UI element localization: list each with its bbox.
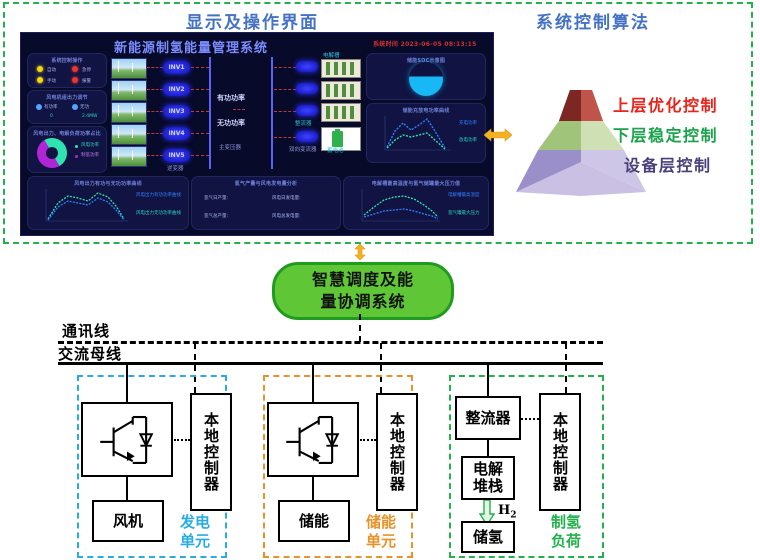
igbt-symbol-icon: [269, 402, 357, 477]
panel-temp-pressure-curves[interactable]: 电解槽最高温度与氢气储罐最大压力值 电解槽最高温度 氢气罐最大压力: [343, 176, 489, 230]
legend-wind-active: 风电出力有功功率曲线: [136, 192, 181, 198]
gen-ctrl-dashdot: [174, 439, 190, 441]
energy-storage-block[interactable]: 储能: [278, 500, 350, 542]
wind-power-curve-svg: [34, 187, 130, 227]
panel-power-share-donut[interactable]: 风电出力、电解负荷功率占比 风电功率 制氢功率: [27, 126, 107, 173]
unit-generation-label: 发电 单元: [180, 513, 210, 551]
hmi-system-time: 系统时间 2023-06-05 08:13:15: [373, 39, 477, 48]
value-reactive-power: 2.4MW: [82, 114, 98, 119]
rectifier-unit-3[interactable]: [296, 105, 318, 116]
feeder-dash: [147, 89, 163, 90]
legend-dot-wind: [75, 145, 78, 148]
scheduler-box[interactable]: 智慧调度及能 量协调系统: [272, 262, 454, 320]
panel-charge-discharge-title: 储能充放电功率曲线: [367, 107, 485, 114]
panel-power-share-title: 风电出力、电解负荷功率占比: [28, 130, 106, 137]
status-dot-alarm: [72, 77, 78, 83]
hmi-bus-left: [209, 57, 211, 169]
donut-chart: [37, 138, 67, 168]
charge-discharge-svg: [375, 114, 453, 156]
legend-dot-h2: [75, 155, 78, 158]
label-active-power-center: 有功功率: [217, 93, 245, 103]
communication-bus-line: [58, 341, 603, 344]
label-comm-line: 通讯线: [62, 320, 110, 341]
panel-production-analysis-title: 氢气产量与风电发电量分析: [192, 180, 340, 187]
hydrogen-gas-label: H2: [498, 503, 517, 521]
section-title-algorithm: 系统控制算法: [536, 8, 650, 33]
wind-farm-thumbnail: [111, 102, 147, 123]
option-auto[interactable]: 自动: [47, 67, 56, 73]
wind-farm-thumbnail: [111, 80, 147, 101]
legend-charge-power: 充电功率: [459, 120, 477, 126]
field-h2-total: 氢气总产量:: [204, 213, 228, 219]
wind-turbine-label: 风机: [113, 513, 143, 530]
hydrogen-storage-label: 储氢: [473, 529, 503, 546]
rectifier-unit-1[interactable]: [296, 61, 318, 72]
igbt-symbol-icon: [83, 402, 171, 477]
feeder-dash: [147, 155, 163, 156]
unit-storage-label: 储能 单元: [366, 513, 396, 551]
energy-storage-label: 储能: [299, 513, 329, 530]
electrolyzer-cell-3: [321, 103, 361, 122]
unit-hydrogen-label: 制氢 负荷: [551, 513, 581, 551]
unit-generation-label-line1: 发电: [180, 513, 210, 531]
algorithm-layer-device: 设备层控制: [624, 152, 712, 176]
electrolysis-stack-label: 电解 堆栈: [473, 461, 503, 495]
label-electrolyzer: 电解槽: [323, 51, 340, 59]
field-wind-total: 风电总发电量:: [272, 213, 301, 219]
soc-gauge: [409, 62, 443, 96]
inverter-inv4[interactable]: INV4: [163, 127, 190, 140]
temp-pressure-curve-svg: [350, 187, 442, 227]
inv-bus-dash: [191, 67, 209, 68]
hmi-dashboard-screenshot[interactable]: 新能源制氢能量管理系统 系统时间 2023-06-05 08:13:15 系统控…: [20, 32, 494, 236]
panel-wind-power-curves[interactable]: 风电出力有功与无功功率曲线 风电出力有功功率曲线 风电出力无功功率曲线: [27, 176, 189, 230]
option-alarm[interactable]: 报警: [82, 78, 91, 84]
rectifier-unit-2[interactable]: [296, 83, 318, 94]
wind-turbine-block[interactable]: 风机: [92, 500, 164, 542]
bidirectional-link-arrow: [484, 128, 512, 142]
wind-farm-thumbnail: [111, 58, 147, 79]
unit-hydrogen-label-line1: 制氢: [551, 513, 581, 531]
panel-output-regulation-title: 风电机组出力调节: [28, 94, 106, 101]
panel-output-regulation[interactable]: 风电机组出力调节 有功率 无功 0 2.4MW: [27, 90, 107, 124]
ess-ctrl-dashdot: [360, 439, 376, 441]
converter-ess[interactable]: [267, 402, 359, 477]
label-ac-bus: 交流母线: [58, 343, 122, 364]
option-manual[interactable]: 手动: [47, 78, 56, 84]
label-rectifier: 整流器: [295, 119, 312, 127]
device-dash: [274, 137, 296, 138]
field-h2-daily: 氢气日产量:: [204, 195, 228, 201]
electrolysis-stack-line2: 堆栈: [473, 477, 503, 495]
inverter-inv5[interactable]: INV5: [163, 149, 190, 162]
local-controller-gen-label: 本地控制器: [201, 412, 221, 492]
marker-active-power: [36, 104, 42, 110]
inv-bus-dash: [191, 133, 209, 134]
gen-link-down: [126, 477, 128, 500]
scheduler-label: 智慧调度及能 量协调系统: [312, 269, 414, 313]
legend-h2-pressure: 氢气罐最大压力: [448, 210, 480, 216]
feeder-dash: [147, 111, 163, 112]
electrolyzer-cell-2: [321, 81, 361, 100]
panel-control-operations-title: 系统控制操作: [28, 57, 106, 64]
unit-hydrogen-label-line2: 负荷: [551, 532, 581, 550]
legend-electrolyzer-temp: 电解槽最高温度: [448, 192, 480, 198]
hydrogen-subscript: 2: [510, 511, 516, 521]
value-active-power: 0: [50, 114, 53, 119]
electrolysis-stack-line1: 电解: [473, 460, 503, 478]
algorithm-layer-lower: 下层稳定控制: [613, 122, 718, 146]
vertical-link-arrow: [352, 244, 368, 260]
unit-storage-label-line1: 储能: [366, 513, 396, 531]
option-estop[interactable]: 急停: [82, 67, 91, 73]
device-dash: [274, 111, 296, 112]
wind-farm-thumbnail: [111, 124, 147, 145]
rectifier-label: 整流器: [465, 410, 510, 427]
inv-bus-dash: [191, 155, 209, 156]
panel-temp-pressure-title: 电解槽最高温度与氢气储罐最大压力值: [344, 180, 488, 187]
local-controller-ess[interactable]: 本地控制器: [376, 393, 418, 511]
inverter-inv3[interactable]: INV3: [163, 105, 190, 118]
label-bidirectional-converter: 双向变流器: [289, 145, 317, 153]
unit-storage-label-line2: 单元: [366, 532, 396, 550]
legend-wind-reactive: 风电出力无功功率曲线: [136, 210, 181, 216]
panel-soc[interactable]: 储能SOC示意图: [366, 53, 486, 100]
status-dot-manual: [37, 77, 43, 83]
hmi-bus-right: [271, 57, 273, 169]
label-inverter-group: 逆变器: [167, 164, 184, 172]
ac-bus-line: [58, 362, 603, 365]
local-controller-h2[interactable]: 本地控制器: [539, 393, 581, 511]
local-controller-gen[interactable]: 本地控制器: [190, 393, 232, 511]
algorithm-layer-upper: 上层优化控制: [613, 92, 718, 116]
section-title-display: 显示及操作界面: [186, 8, 319, 33]
bidirectional-converter[interactable]: [296, 131, 318, 142]
field-wind-daily: 风电日发电量:: [272, 195, 301, 201]
panel-charge-discharge-chart[interactable]: 储能充放电功率曲线 充电功率 放电功率: [366, 103, 486, 163]
inverter-inv2[interactable]: INV2: [163, 83, 190, 96]
legend-discharge-power: 放电功率: [459, 137, 477, 143]
center-dash: [233, 109, 245, 110]
feeder-dash: [147, 67, 163, 68]
scheduler-label-line2: 量协调系统: [320, 292, 405, 311]
panel-wind-power-curves-title: 风电出力有功与无功功率曲线: [28, 180, 188, 187]
panel-production-analysis[interactable]: 氢气产量与风电发电量分析 氢气日产量: 风电日发电量: 氢气总产量: 风电总发电…: [191, 176, 341, 230]
feeder-dash: [147, 133, 163, 134]
local-controller-h2-label: 本地控制器: [550, 412, 570, 492]
electrolyzer-cell-1: [321, 59, 361, 78]
converter-gen[interactable]: [81, 402, 173, 477]
label-reactive-power-center: 无功功率: [217, 118, 245, 128]
panel-control-operations[interactable]: 系统控制操作 自动 急停 手动 报警: [27, 53, 107, 88]
h2-rect-stack-link: [487, 440, 489, 456]
marker-reactive-power: [72, 104, 78, 110]
wind-farm-thumbnail: [111, 146, 147, 167]
status-dot-estop: [72, 66, 78, 72]
scheduler-comm-drop: [359, 314, 361, 342]
electrolysis-stack-block[interactable]: 电解 堆栈: [461, 456, 515, 500]
label-reactive-power: 无功: [80, 104, 89, 110]
h2-ctrl-dashdot: [521, 418, 539, 420]
hydrogen-storage-block[interactable]: 储氢: [461, 521, 515, 553]
label-main-transformer: 主变压器: [219, 143, 241, 151]
device-dash: [274, 89, 296, 90]
scheduler-label-line1: 智慧调度及能: [312, 270, 414, 289]
label-active-power: 有功率: [44, 104, 58, 110]
local-controller-ess-label: 本地控制器: [387, 412, 407, 492]
inv-bus-dash: [191, 111, 209, 112]
legend-label-h2: 制氢功率: [81, 152, 99, 158]
unit-generation-label-line2: 单元: [180, 532, 210, 550]
rectifier-block[interactable]: 整流器: [455, 396, 521, 440]
label-battery: 蓄电池: [327, 146, 344, 154]
legend-label-wind: 风电功率: [81, 142, 99, 148]
ess-link-down: [312, 477, 314, 500]
device-dash: [274, 67, 296, 68]
inv-bus-dash: [191, 89, 209, 90]
hydrogen-symbol: H: [498, 503, 510, 518]
inverter-inv1[interactable]: INV1: [163, 61, 190, 74]
status-dot-auto: [37, 66, 43, 72]
